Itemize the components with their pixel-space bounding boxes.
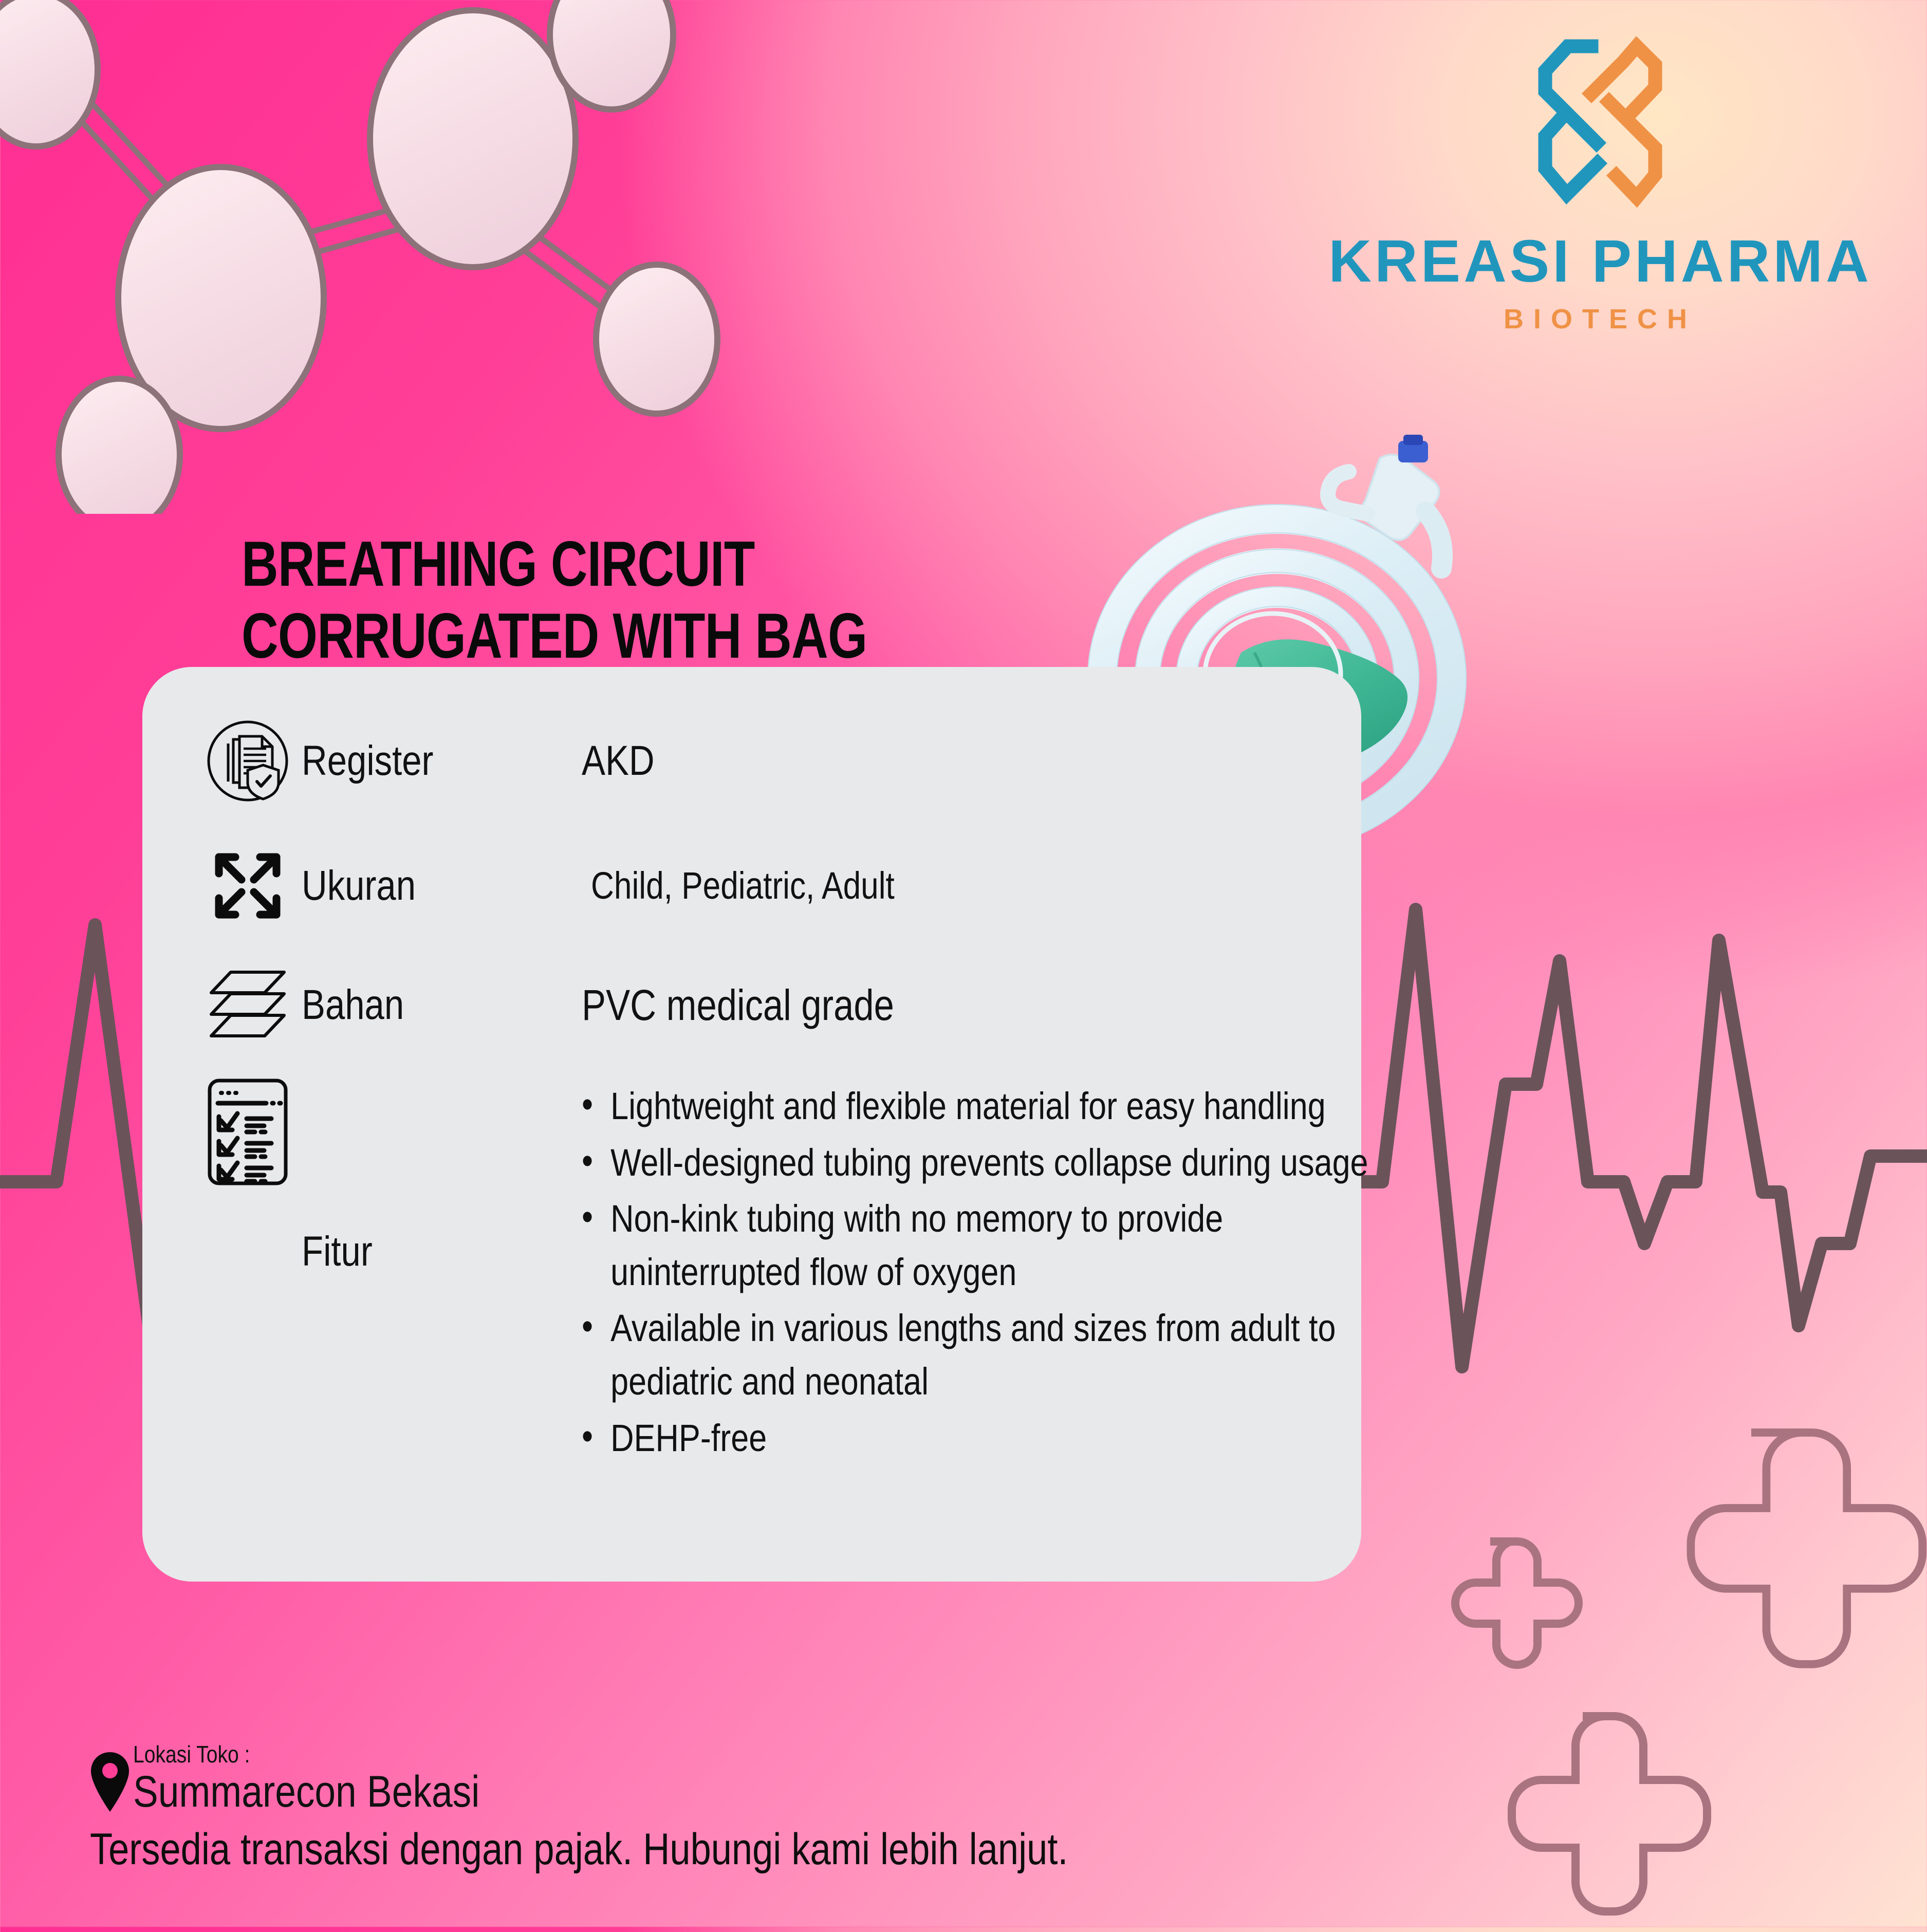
location-name: Summarecon Bekasi [133,1770,479,1814]
molecule-decoration [0,0,802,514]
spec-row-ukuran: Ukuran Child, Pediatric, Adult [194,825,1341,946]
spec-row-bahan: Bahan PVC medical grade [194,946,1341,1064]
feature-item: Well-designed tubing prevents collapse d… [582,1136,1403,1190]
map-pin-icon [90,1751,130,1813]
spec-value-register: AKD [582,740,655,782]
brand-logo: KREASI PHARMA BIOTECH [1323,31,1878,335]
location-label: Lokasi Toko : [133,1741,479,1768]
feature-item: Available in various lengths and sizes f… [582,1302,1403,1408]
document-shield-check-icon [194,717,302,805]
checklist-document-icon [194,1076,302,1187]
feature-list: Lightweight and flexible material for ea… [582,1080,1404,1467]
spec-rows: Register AKD Ukuran Child, Pediatric, Ad… [194,697,1341,1467]
feature-item: Non-kink tubing with no memory to provid… [582,1192,1403,1298]
spec-value-bahan: PVC medical grade [582,983,894,1027]
spec-value-ukuran: Child, Pediatric, Adult [591,867,895,905]
footer-tagline: Tersedia transaksi dengan pajak. Hubungi… [90,1827,1385,1871]
spec-row-fitur: Fitur Lightweight and flexible material … [194,1064,1341,1467]
spec-row-register: Register AKD [194,697,1341,825]
spec-label-fitur: Fitur [302,1231,537,1273]
brand-subtitle: BIOTECH [1504,303,1697,335]
expand-arrows-icon [194,847,302,925]
store-location: Lokasi Toko : Summarecon Bekasi [90,1741,1632,1814]
spec-label-bahan: Bahan [302,984,537,1026]
spec-label-ukuran: Ukuran [302,865,537,907]
spec-card: Register AKD Ukuran Child, Pediatric, Ad… [142,667,1361,1582]
interlocking-chain-logo-icon [1515,31,1685,216]
layers-stack-icon [194,969,302,1041]
feature-item: DEHP-free [582,1411,1403,1465]
footer: Lokasi Toko : Summarecon Bekasi Tersedia… [90,1741,1632,1871]
brand-name: KREASI PHARMA [1328,231,1872,291]
spec-label-register: Register [302,740,537,782]
feature-item: Lightweight and flexible material for ea… [582,1080,1403,1133]
product-title: BREATHING CIRCUIT CORRUGATED WITH BAG [242,528,867,672]
